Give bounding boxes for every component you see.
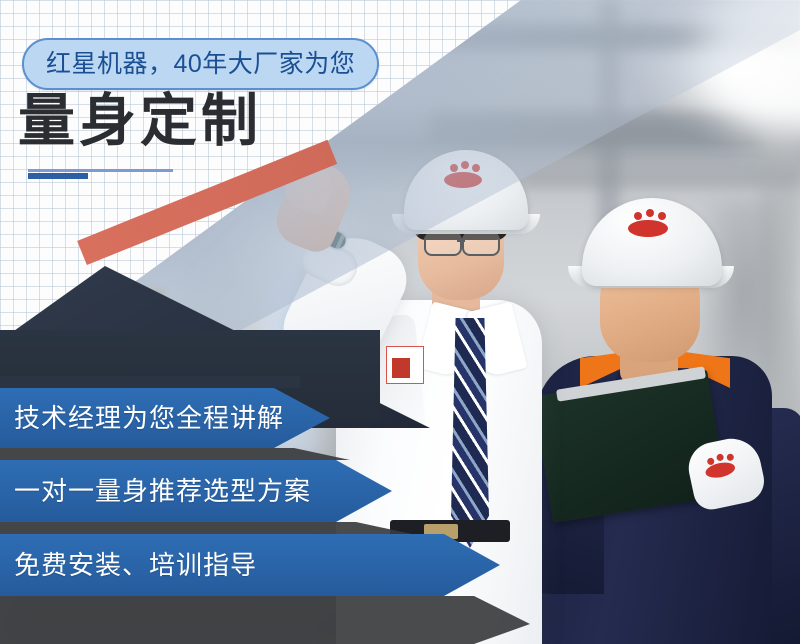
striped-necktie [451,318,489,548]
feature-bar-3[interactable]: 免费安装、培训指导 [0,534,500,596]
title-underline-light [28,169,173,172]
eyeglasses-bridge [457,239,465,242]
hero-banner: 红星机器，40年大厂家为您 量身定制 技术经理为您全程讲解 一对一量身推荐选型方… [0,0,800,644]
feature-bar-shadow [0,596,530,644]
chest-badge-logo-icon [392,358,410,378]
helmet-logo-icon [582,198,722,286]
eyeglasses-left-lens-icon [424,232,462,256]
feature-bar-1[interactable]: 技术经理为您全程讲解 [0,388,330,448]
title-underline-dark [28,173,88,179]
tagline-badge: 红星机器，40年大厂家为您 [22,38,379,90]
feature-bar-shadow [0,448,350,460]
feature-bar-3-label: 免费安装、培训指导 [0,552,257,578]
tagline-badge-label: 红星机器，40年大厂家为您 [46,52,355,77]
page-title: 量身定制 [18,92,262,152]
feature-bar-2[interactable]: 一对一量身推荐选型方案 [0,460,392,522]
feature-bar-shadow [0,522,412,534]
feature-bar-1-label: 技术经理为您全程讲解 [0,405,284,431]
eyeglasses-right-lens-icon [462,232,500,256]
feature-bar-2-label: 一对一量身推荐选型方案 [0,478,311,504]
safety-helmet [582,198,722,286]
navy-top-edge [0,376,300,388]
ceiling-beam [520,170,800,188]
